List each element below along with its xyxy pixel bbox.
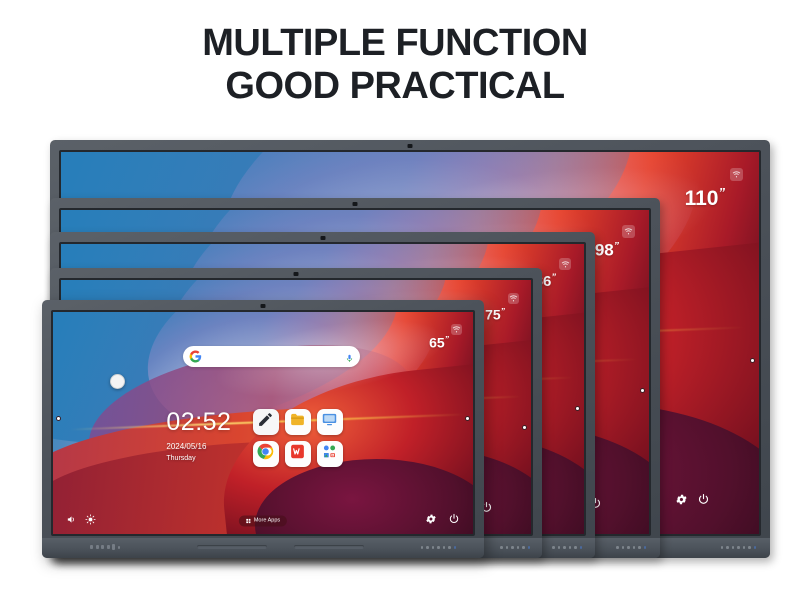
app-drawer[interactable] xyxy=(317,441,343,467)
display-65-panel: 65” xyxy=(51,310,475,536)
display-65[interactable]: 65” xyxy=(42,300,484,558)
wps-icon xyxy=(289,443,306,465)
wifi-icon xyxy=(730,168,743,181)
camera-icon xyxy=(353,202,358,206)
display-110-taskbar xyxy=(675,493,710,511)
gear-icon[interactable] xyxy=(425,512,437,530)
volume-icon[interactable] xyxy=(66,512,77,530)
indicator-dots xyxy=(616,546,646,549)
clock-time: 02:52 xyxy=(166,410,231,435)
clock-weekday: Thursday xyxy=(166,455,231,462)
power-icon[interactable] xyxy=(697,493,710,511)
google-g-icon xyxy=(189,350,202,363)
clock-date: 2024/05/16 xyxy=(166,442,231,451)
app-shortcut-grid xyxy=(253,409,343,467)
camera-icon xyxy=(408,144,413,148)
app-chrome[interactable] xyxy=(253,441,279,467)
pencil-icon xyxy=(257,411,274,433)
wifi-icon xyxy=(622,225,635,238)
size-label-110: 110” xyxy=(685,185,725,211)
monitor-icon xyxy=(321,411,338,433)
speaker-grille-left xyxy=(197,545,267,549)
brightness-icon[interactable] xyxy=(85,512,96,530)
app-file-manager[interactable] xyxy=(285,409,311,435)
camera-icon xyxy=(294,272,299,276)
taskbar: More Apps xyxy=(53,507,473,534)
indicator-dots xyxy=(500,546,530,549)
power-icon[interactable] xyxy=(448,512,460,530)
wifi-icon xyxy=(451,324,462,335)
app-wps-office[interactable] xyxy=(285,441,311,467)
microphone-icon[interactable] xyxy=(345,350,354,363)
size-label-75: 75” xyxy=(485,306,505,323)
camera-icon xyxy=(320,236,325,240)
wifi-icon xyxy=(508,293,519,304)
display-65-base xyxy=(42,538,484,558)
app-whiteboard[interactable] xyxy=(253,409,279,435)
grid-icon xyxy=(246,518,251,523)
indicator-dots xyxy=(721,546,757,549)
folder-icon xyxy=(289,411,306,433)
app-grid-icon xyxy=(321,443,338,465)
size-label-98: 98” xyxy=(595,240,619,261)
search-input[interactable] xyxy=(183,346,359,367)
speaker-grille-right xyxy=(294,545,364,549)
wifi-icon xyxy=(559,258,571,270)
size-label-65: 65” xyxy=(429,334,449,351)
touch-sensor-dot xyxy=(522,425,527,430)
more-apps-label: More Apps xyxy=(254,518,280,524)
camera-icon xyxy=(261,304,266,308)
floating-menu-button[interactable] xyxy=(110,374,125,389)
more-apps-button[interactable]: More Apps xyxy=(239,515,287,526)
gear-icon[interactable] xyxy=(675,493,688,511)
indicator-dots xyxy=(552,546,582,549)
chrome-icon xyxy=(257,443,274,465)
display-stack: 110” xyxy=(0,0,790,600)
clock-widget: 02:52 2024/05/16 Thursday xyxy=(166,410,231,462)
indicator-dots xyxy=(421,546,457,549)
app-screen-share[interactable] xyxy=(317,409,343,435)
port-row[interactable] xyxy=(90,544,120,550)
